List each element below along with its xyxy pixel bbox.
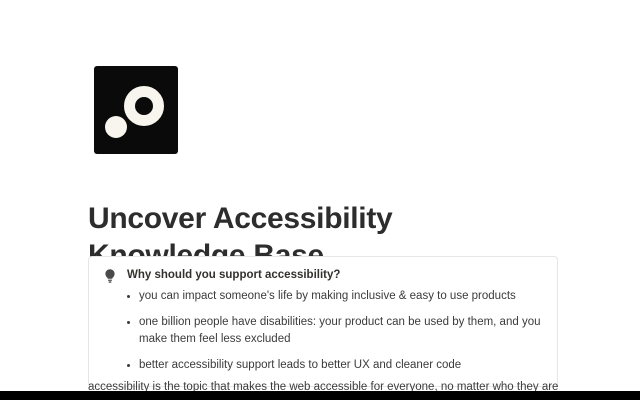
- callout-bullet-list: you can impact someone's life by making …: [103, 288, 543, 374]
- bottom-bar: [0, 391, 640, 400]
- logo-ring-icon: [124, 86, 164, 126]
- uncover-logo: [94, 66, 178, 154]
- list-item: you can impact someone's life by making …: [103, 288, 543, 305]
- list-item: better accessibility support leads to be…: [103, 357, 543, 374]
- callout-header: Why should you support accessibility?: [103, 267, 543, 284]
- logo-dot-icon: [105, 116, 127, 138]
- list-item: one billion people have disabilities: yo…: [103, 314, 543, 348]
- lightbulb-icon: [103, 268, 117, 284]
- page-canvas: Uncover Accessibility Knowledge Base Why…: [0, 0, 640, 400]
- callout-title: Why should you support accessibility?: [127, 267, 340, 283]
- clipped-paragraph: accessibility is the topic that makes th…: [88, 379, 558, 391]
- clipped-paragraph-region: accessibility is the topic that makes th…: [88, 379, 558, 391]
- callout-block: Why should you support accessibility? yo…: [88, 256, 558, 387]
